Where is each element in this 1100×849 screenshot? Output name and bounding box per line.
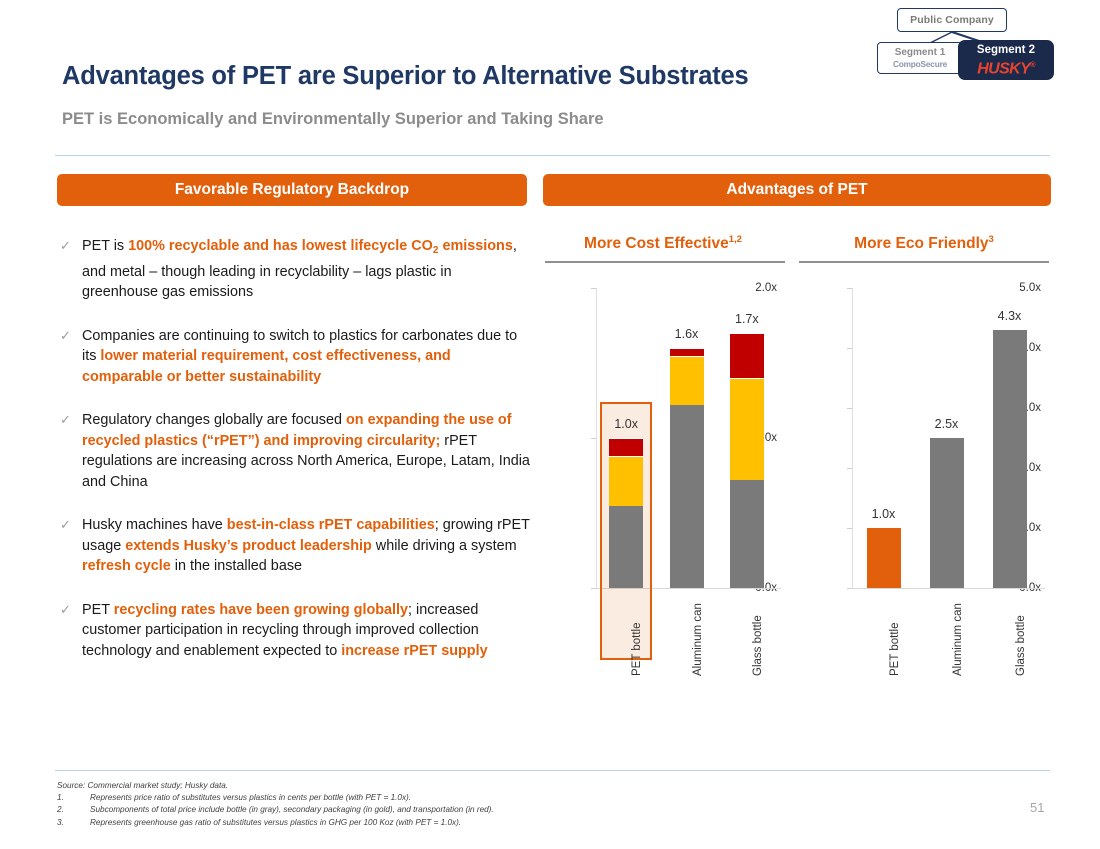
bullet-text: PET is 100% recyclable and has lowest li…	[82, 236, 530, 303]
bullet-plain: Husky machines have	[82, 517, 227, 533]
bullet-plain: in the installed base	[171, 558, 302, 574]
footnote-item: 3.Represents greenhouse gas ratio of sub…	[57, 817, 917, 829]
footnote-number: 1.	[57, 792, 90, 804]
x-axis-category-label: PET bottle	[889, 623, 901, 677]
y-axis-tick-label: 2.0x	[755, 282, 777, 294]
check-icon: ✓	[60, 327, 71, 345]
bar-segment-transportation	[730, 333, 764, 378]
chart-title-underline-right	[799, 261, 1049, 263]
bullet-plain: while driving a system	[372, 538, 517, 554]
panel-header-advantages: Advantages of PET	[543, 174, 1051, 206]
bullet-text: PET recycling rates have been growing gl…	[82, 600, 530, 662]
bar-segment-secondary-packaging	[609, 456, 643, 506]
x-axis-category-label: Glass bottle	[1015, 615, 1027, 676]
bar-pet-bottle[interactable]	[867, 528, 901, 588]
footnote-item: 1.Represents price ratio of substitutes …	[57, 792, 917, 804]
chart-title-eco-friendly: More Eco Friendly3	[799, 234, 1049, 253]
page-number: 51	[1030, 800, 1044, 815]
page-title: Advantages of PET are Superior to Altern…	[62, 62, 748, 91]
footer-divider	[55, 770, 1050, 771]
bar-segment-transportation	[609, 438, 643, 456]
bullet-highlight: emissions	[438, 238, 512, 254]
bullet-item: ✓PET is 100% recyclable and has lowest l…	[60, 236, 530, 303]
bullet-highlight: 100% recyclable and has lowest lifecycle…	[128, 238, 433, 254]
footnote-number: 2.	[57, 804, 90, 816]
bar-pet-bottle[interactable]	[609, 438, 643, 588]
bar-segment-secondary-packaging	[670, 356, 704, 406]
check-icon: ✓	[60, 411, 71, 429]
x-axis-category-label: Glass bottle	[752, 615, 764, 676]
bar-segment-transportation	[670, 348, 704, 356]
y-axis-tick	[591, 288, 596, 289]
footnote-item: 2.Subcomponents of total price include b…	[57, 804, 917, 816]
bullet-list: ✓PET is 100% recyclable and has lowest l…	[60, 236, 530, 684]
x-axis-category-label: PET bottle	[631, 623, 643, 677]
panel-header-regulatory: Favorable Regulatory Backdrop	[57, 174, 527, 206]
footnote-text: Subcomponents of total price include bot…	[90, 804, 494, 816]
x-axis-category-label: Aluminum can	[952, 603, 964, 676]
bar-segment-bottle	[730, 480, 764, 588]
charts-region: More Cost Effective1,2 More Eco Friendly…	[543, 228, 1053, 708]
footnote-source-text: Source: Commercial market study; Husky d…	[57, 780, 228, 792]
composecure-logo: CompoSecure	[893, 59, 947, 70]
bullet-item: ✓Companies are continuing to switch to p…	[60, 326, 530, 388]
bullet-item: ✓Regulatory changes globally are focused…	[60, 410, 530, 492]
y-axis-tick	[847, 348, 852, 349]
bar-glass-bottle[interactable]	[730, 333, 764, 588]
chart-cost-effective: 0.0x1.0x2.0x1.0xPET bottle1.6xAluminum c…	[545, 276, 785, 616]
check-icon: ✓	[60, 601, 71, 619]
footnote-text: Represents price ratio of substitutes ve…	[90, 792, 411, 804]
slide: Public Company Segment 1 CompoSecure Seg…	[0, 0, 1100, 849]
y-axis-tick-label: 5.0x	[1019, 282, 1041, 294]
bar-glass-bottle[interactable]	[993, 330, 1027, 588]
bar-aluminum-can[interactable]	[930, 438, 964, 588]
bullet-text: Husky machines have best-in-class rPET c…	[82, 515, 530, 577]
chart-eco-friendly: 0.0x1.0x2.0x3.0x4.0x5.0x1.0xPET bottle2.…	[801, 276, 1049, 616]
public-company-label: Public Company	[910, 14, 994, 26]
check-icon: ✓	[60, 237, 71, 255]
footnote-number: 3.	[57, 817, 90, 829]
y-axis-line	[852, 288, 853, 588]
bar-value-label: 4.3x	[980, 309, 1040, 323]
bullet-highlight: refresh cycle	[82, 558, 171, 574]
x-axis-category-label: Aluminum can	[692, 603, 704, 676]
bullet-item: ✓Husky machines have best-in-class rPET …	[60, 515, 530, 577]
bullet-text: Regulatory changes globally are focused …	[82, 410, 530, 492]
segment1-box: Segment 1 CompoSecure	[877, 42, 963, 74]
bullet-plain: PET is	[82, 238, 128, 254]
bullet-highlight: recycling rates have been growing global…	[114, 602, 408, 618]
y-axis-tick	[847, 468, 852, 469]
y-axis-tick	[847, 288, 852, 289]
corporate-structure-mark: Public Company Segment 1 CompoSecure Seg…	[860, 4, 1060, 88]
header-divider	[55, 155, 1050, 156]
bullet-plain: PET	[82, 602, 114, 618]
bar-value-label: 1.0x	[596, 417, 656, 431]
bar-segment-bottle	[609, 506, 643, 589]
bar-segment-secondary-packaging	[730, 378, 764, 480]
footnote-source: Source: Commercial market study; Husky d…	[57, 780, 917, 792]
bullet-text: Companies are continuing to switch to pl…	[82, 326, 530, 388]
husky-logo: HUSKY®	[977, 57, 1035, 77]
footnote-text: Represents greenhouse gas ratio of subst…	[90, 817, 461, 829]
bullet-plain: Regulatory changes globally are focused	[82, 412, 346, 428]
bullet-highlight: extends Husky’s product leadership	[125, 538, 372, 554]
chart-title-underline-left	[545, 261, 785, 263]
bullet-highlight: best-in-class rPET capabilities	[227, 517, 435, 533]
bar-value-label: 1.0x	[854, 507, 914, 521]
x-axis-baseline	[852, 588, 1045, 589]
y-axis-tick	[591, 438, 596, 439]
bullet-highlight: lower material requirement, cost effecti…	[82, 348, 451, 385]
bar-value-label: 2.5x	[917, 417, 977, 431]
bullet-item: ✓PET recycling rates have been growing g…	[60, 600, 530, 662]
bar-value-label: 1.7x	[717, 312, 777, 326]
bullet-highlight: increase rPET supply	[341, 643, 487, 659]
page-subtitle: PET is Economically and Environmentally …	[62, 110, 604, 129]
chart-title-cost-effective: More Cost Effective1,2	[543, 234, 783, 253]
public-company-box: Public Company	[897, 8, 1007, 32]
bar-aluminum-can[interactable]	[670, 348, 704, 588]
segment2-label: Segment 2	[977, 43, 1035, 57]
check-icon: ✓	[60, 516, 71, 534]
bar-segment-bottle	[670, 405, 704, 588]
y-axis-tick	[847, 408, 852, 409]
y-axis-tick	[847, 528, 852, 529]
y-axis-line	[596, 288, 597, 588]
segment1-label: Segment 1	[895, 47, 946, 59]
footnotes: Source: Commercial market study; Husky d…	[57, 780, 917, 829]
segment2-box: Segment 2 HUSKY®	[958, 40, 1054, 80]
bar-value-label: 1.6x	[657, 327, 717, 341]
